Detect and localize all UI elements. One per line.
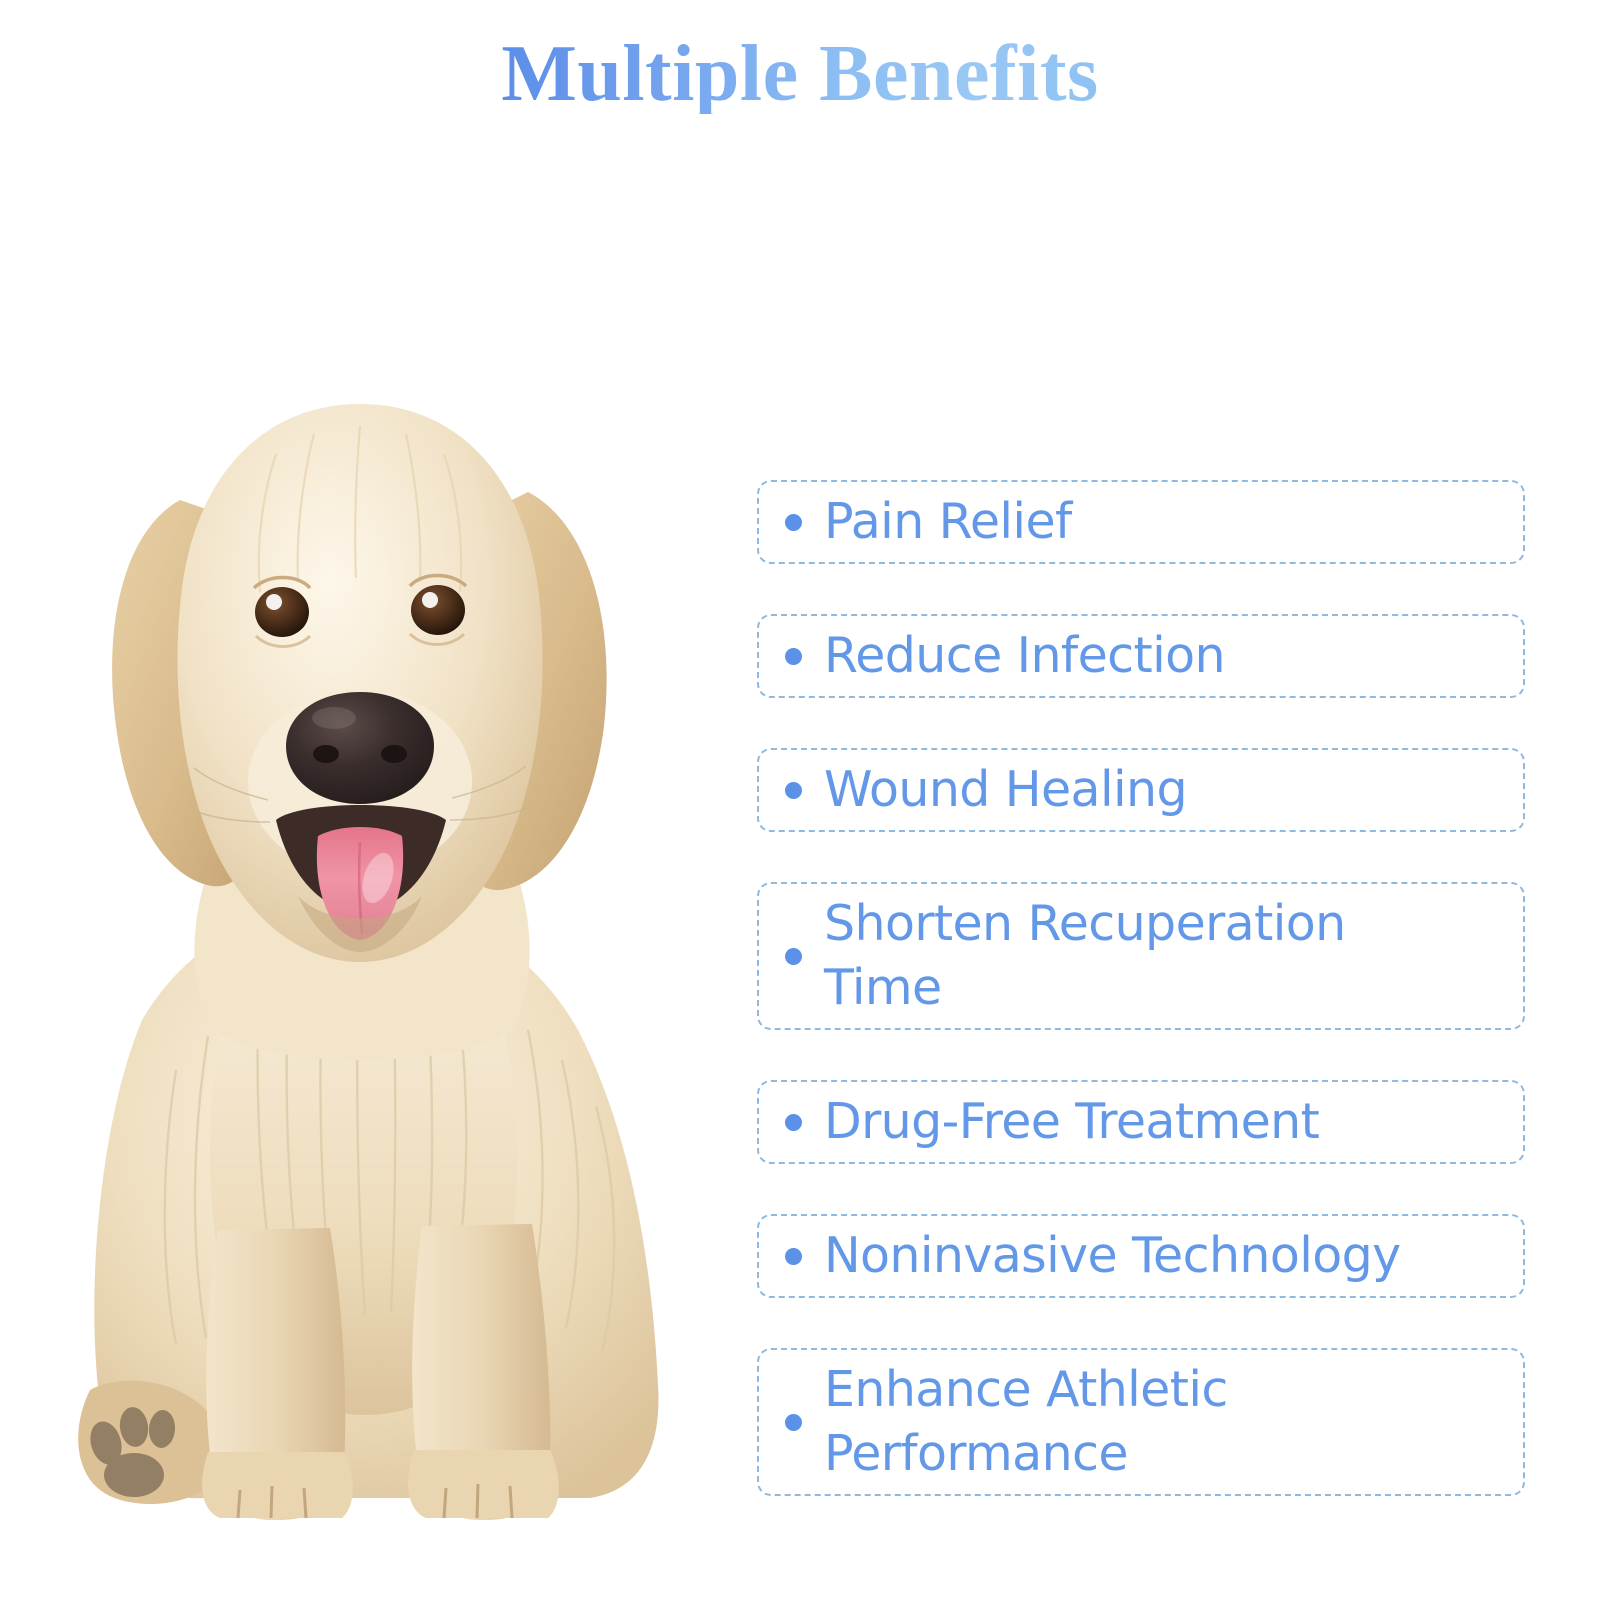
page-title-container: Multiple Benefits — [0, 34, 1600, 114]
bullet-icon — [785, 648, 802, 665]
benefit-label: Shorten Recuperation Time — [824, 892, 1509, 1020]
benefit-item-enhance-athletic-performance[interactable]: Enhance Athletic Performance — [757, 1348, 1525, 1496]
benefit-label: Pain Relief — [824, 490, 1509, 554]
benefit-item-drug-free-treatment[interactable]: Drug-Free Treatment — [757, 1080, 1525, 1164]
bullet-icon — [785, 1248, 802, 1265]
bullet-icon — [785, 1414, 802, 1431]
page-title: Multiple Benefits — [501, 34, 1098, 114]
bullet-icon — [785, 782, 802, 799]
puppy-photo — [30, 330, 690, 1520]
benefits-list: Pain Relief Reduce Infection Wound Heali… — [757, 480, 1525, 1546]
benefit-item-noninvasive-technology[interactable]: Noninvasive Technology — [757, 1214, 1525, 1298]
benefit-label: Reduce Infection — [824, 624, 1509, 688]
bullet-icon — [785, 948, 802, 965]
benefit-label: Wound Healing — [824, 758, 1509, 822]
benefit-label: Noninvasive Technology — [824, 1224, 1509, 1288]
benefit-item-reduce-infection[interactable]: Reduce Infection — [757, 614, 1525, 698]
bullet-icon — [785, 514, 802, 531]
benefit-item-shorten-recuperation-time[interactable]: Shorten Recuperation Time — [757, 882, 1525, 1030]
benefit-item-pain-relief[interactable]: Pain Relief — [757, 480, 1525, 564]
benefit-label: Drug-Free Treatment — [824, 1090, 1509, 1154]
benefit-label: Enhance Athletic Performance — [824, 1358, 1509, 1486]
bullet-icon — [785, 1114, 802, 1131]
benefit-item-wound-healing[interactable]: Wound Healing — [757, 748, 1525, 832]
product-benefits-page: Multiple Benefits — [0, 0, 1600, 1600]
